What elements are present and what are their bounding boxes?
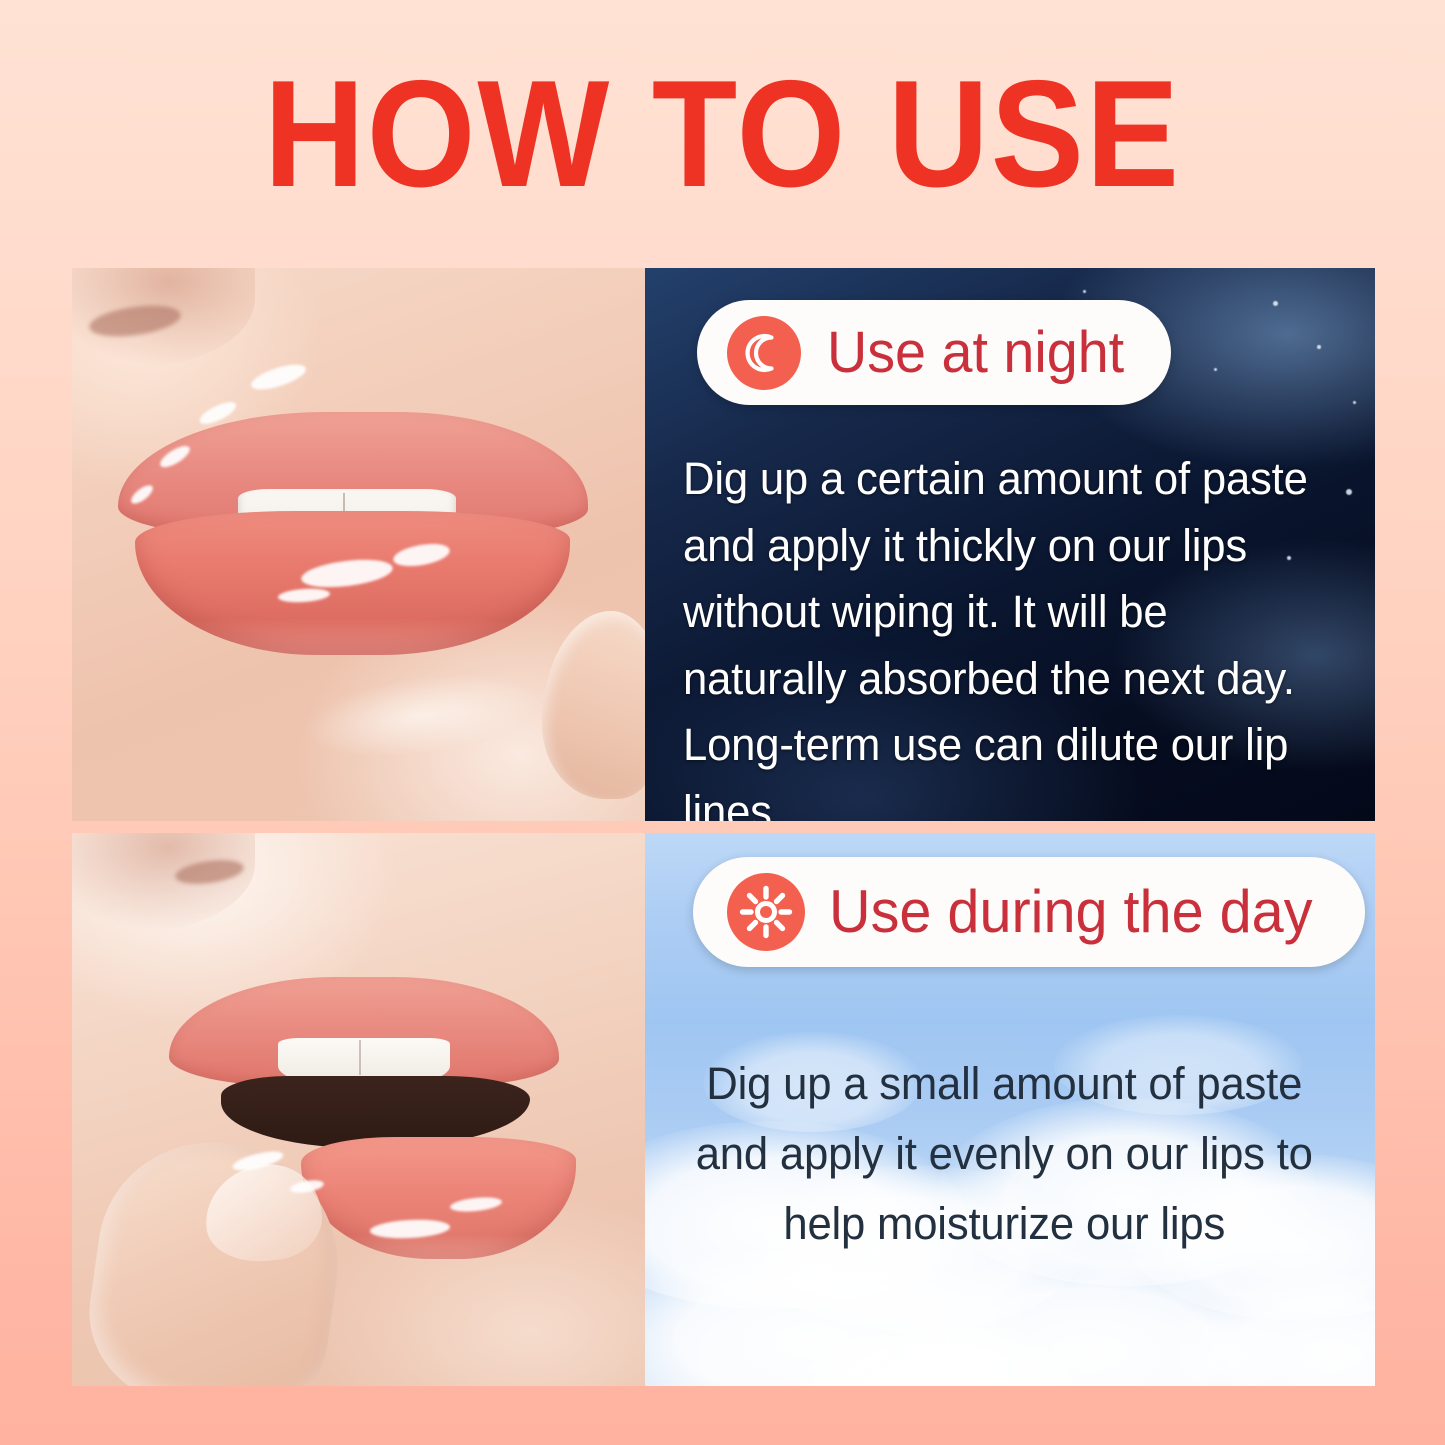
sun-icon (727, 873, 805, 951)
night-badge[interactable]: Use at night (697, 300, 1171, 405)
star (1273, 301, 1278, 306)
star (1214, 368, 1217, 371)
star (1317, 345, 1321, 349)
day-badge-label: Use during the day (829, 882, 1313, 942)
night-photo (72, 268, 645, 821)
day-sky-background: Use during the day Dig up a small amount… (645, 833, 1375, 1386)
star (1353, 401, 1356, 404)
star (1346, 489, 1352, 495)
finger-on-lips-image (72, 833, 645, 1386)
night-badge-label: Use at night (827, 324, 1124, 382)
day-photo (72, 833, 645, 1386)
glossy-lips-image (72, 268, 645, 821)
instruction-grid: Use at night Dig up a certain amount of … (72, 268, 1375, 1386)
night-sky-background: Use at night Dig up a certain amount of … (645, 268, 1375, 821)
page-title: HOW TO USE (264, 58, 1181, 210)
page-title-container: HOW TO USE (0, 58, 1445, 210)
how-to-use-poster: HOW TO USE (0, 0, 1445, 1445)
night-instruction-panel: Use at night Dig up a certain amount of … (645, 268, 1375, 821)
day-badge[interactable]: Use during the day (693, 857, 1365, 967)
star (1083, 290, 1086, 293)
day-instruction-panel: Use during the day Dig up a small amount… (645, 833, 1375, 1386)
night-instruction-text: Dig up a certain amount of paste and app… (683, 446, 1323, 821)
day-instruction-text: Dig up a small amount of paste and apply… (689, 1049, 1320, 1258)
moon-icon (727, 316, 801, 390)
